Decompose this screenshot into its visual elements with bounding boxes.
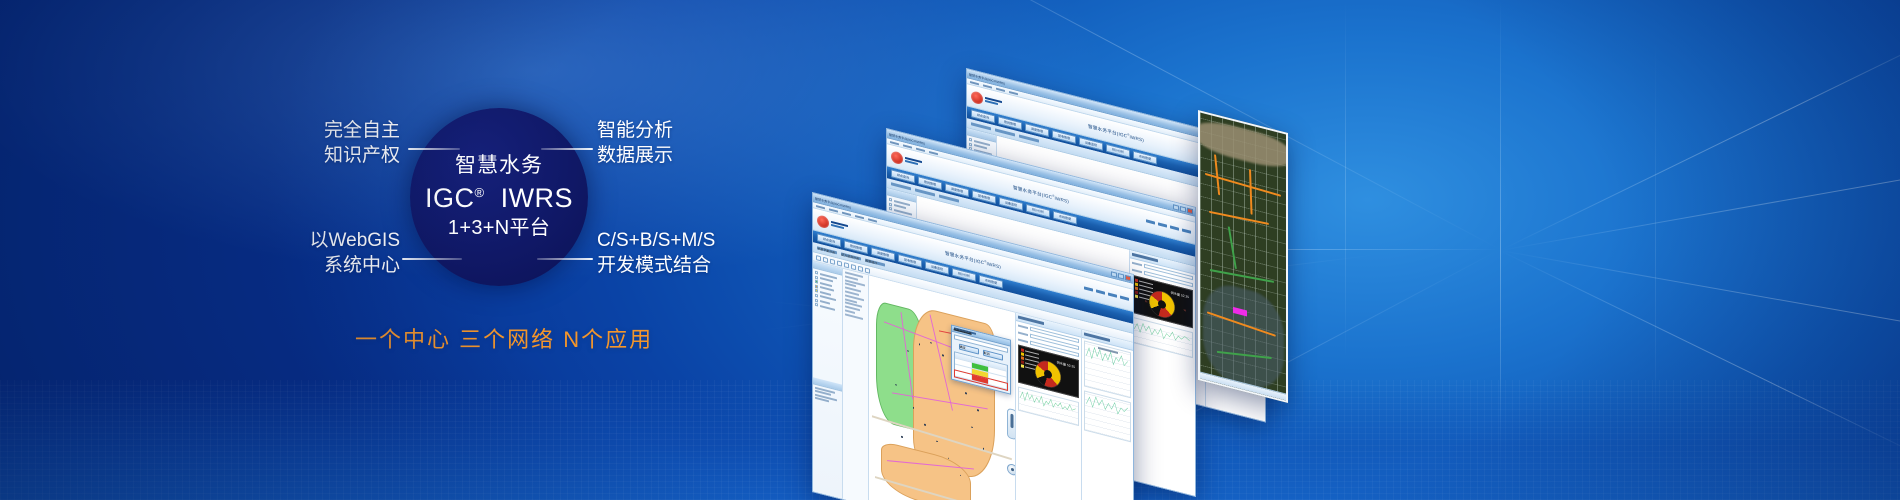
header-link[interactable] xyxy=(1096,290,1105,295)
company-logo-icon xyxy=(817,214,829,229)
pie-chart-title: 供水量 52.25 xyxy=(1057,359,1075,369)
header-link[interactable] xyxy=(1182,229,1191,234)
window-satellite-map[interactable] xyxy=(1198,110,1288,403)
company-logo-icon xyxy=(971,90,983,105)
feature-panel[interactable] xyxy=(843,269,869,500)
header-link[interactable] xyxy=(1146,220,1155,225)
banner-stage: 智慧水务 IGC® IWRS 1+3+N平台 完全自主 知识产权 以WebGIS… xyxy=(0,0,1900,500)
logo-wordmark xyxy=(905,157,922,166)
tool-select-icon[interactable] xyxy=(837,260,842,266)
menu-item[interactable] xyxy=(916,147,925,151)
layer-panel[interactable] xyxy=(813,261,843,500)
maximize-icon[interactable] xyxy=(1118,273,1124,280)
tool-print-icon[interactable] xyxy=(858,265,863,271)
layer-tree[interactable] xyxy=(813,268,842,384)
menu-item[interactable] xyxy=(996,87,1005,91)
app-title-base: 智慧水务平台(IGC xyxy=(1013,185,1052,200)
minimize-icon[interactable] xyxy=(1173,204,1179,211)
attribute-list[interactable] xyxy=(813,384,842,500)
company-logo-icon xyxy=(891,150,903,165)
app-title-base: 智慧水务平台(IGC xyxy=(1088,123,1127,138)
logo-wordmark xyxy=(985,97,1002,106)
app-title-tail: IWRS) xyxy=(1055,195,1070,204)
app-title-tail: IWRS) xyxy=(987,261,1002,270)
tool-identify-icon[interactable] xyxy=(851,263,856,269)
close-icon[interactable] xyxy=(1187,207,1193,214)
app-title-base: 智慧水务平台(IGC xyxy=(945,250,984,265)
tool-measure-icon[interactable] xyxy=(844,262,849,268)
tool-layers-icon[interactable] xyxy=(865,267,870,273)
app-title-tail: IWRS) xyxy=(1130,134,1145,143)
menu-item[interactable] xyxy=(970,81,979,85)
trend-panel[interactable] xyxy=(1081,330,1133,500)
close-icon[interactable] xyxy=(1125,274,1131,281)
menu-item[interactable] xyxy=(890,141,899,145)
map-pan-control[interactable] xyxy=(1007,463,1016,477)
menu-item[interactable] xyxy=(1009,90,1018,94)
line-chart-secondary xyxy=(1084,390,1131,442)
menu-item[interactable] xyxy=(842,211,851,215)
detail-panel[interactable]: 供水量 52.25 % % xyxy=(1129,250,1195,497)
map-canvas[interactable]: 报警规则设置 确定 取消 xyxy=(869,276,1015,500)
tool-zoom-out-icon[interactable] xyxy=(830,258,835,264)
monitor-panel[interactable]: 供水量 52.25 xyxy=(1015,313,1081,500)
header-link[interactable] xyxy=(1158,223,1167,228)
header-links[interactable] xyxy=(1084,287,1129,301)
header-link[interactable] xyxy=(1108,293,1117,298)
menu-item[interactable] xyxy=(929,150,938,154)
menu-item[interactable] xyxy=(855,214,864,218)
tool-pan-icon[interactable] xyxy=(816,255,821,261)
menu-item[interactable] xyxy=(816,205,825,209)
satellite-map-canvas[interactable] xyxy=(1200,113,1286,401)
minimize-icon[interactable] xyxy=(1111,271,1117,278)
pie-chart-title: 供水量 52.25 xyxy=(1171,290,1189,300)
tool-zoom-in-icon[interactable] xyxy=(823,256,828,262)
header-link[interactable] xyxy=(1120,296,1129,301)
menu-item[interactable] xyxy=(829,208,838,212)
menu-item[interactable] xyxy=(903,144,912,148)
header-link[interactable] xyxy=(1084,287,1093,292)
menu-item[interactable] xyxy=(868,218,877,222)
map-zoom-slider[interactable] xyxy=(1007,408,1015,441)
header-links[interactable] xyxy=(1146,220,1191,234)
menu-item[interactable] xyxy=(983,84,992,88)
maximize-icon[interactable] xyxy=(1180,205,1186,212)
map-view[interactable]: 报警规则设置 确定 取消 xyxy=(869,276,1015,500)
header-link[interactable] xyxy=(1170,226,1179,231)
line-chart xyxy=(1084,340,1131,398)
logo-wordmark xyxy=(831,221,848,230)
